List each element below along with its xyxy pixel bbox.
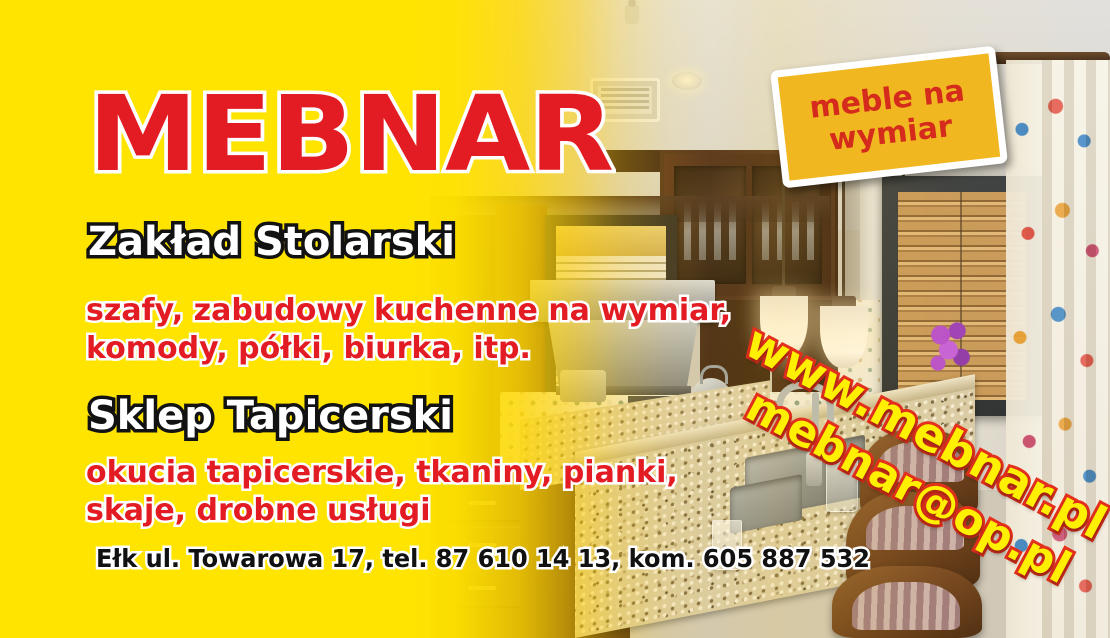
advertisement-banner: MEBNAR Zakład Stolarski szafy, zabudowy … bbox=[0, 0, 1110, 638]
upholstery-service-line-2: skaje, drobne usługi bbox=[86, 496, 431, 526]
address-and-phone: Ełk ul. Towarowa 17, tel. 87 610 14 13, … bbox=[96, 546, 870, 571]
text-layer: MEBNAR Zakład Stolarski szafy, zabudowy … bbox=[0, 0, 1110, 638]
carpentry-service-line-2: komody, półki, biurka, itp. bbox=[86, 334, 531, 364]
upholstery-service-line-1: okucia tapicerskie, tkaniny, pianki, bbox=[86, 458, 678, 488]
section-heading-carpentry: Zakład Stolarski bbox=[88, 222, 455, 262]
custom-furniture-badge: meble na wymiar bbox=[770, 46, 1008, 189]
company-logo: MEBNAR bbox=[88, 82, 613, 186]
section-heading-upholstery: Sklep Tapicerski bbox=[88, 396, 453, 436]
carpentry-service-line-1: szafy, zabudowy kuchenne na wymiar, bbox=[86, 296, 731, 326]
